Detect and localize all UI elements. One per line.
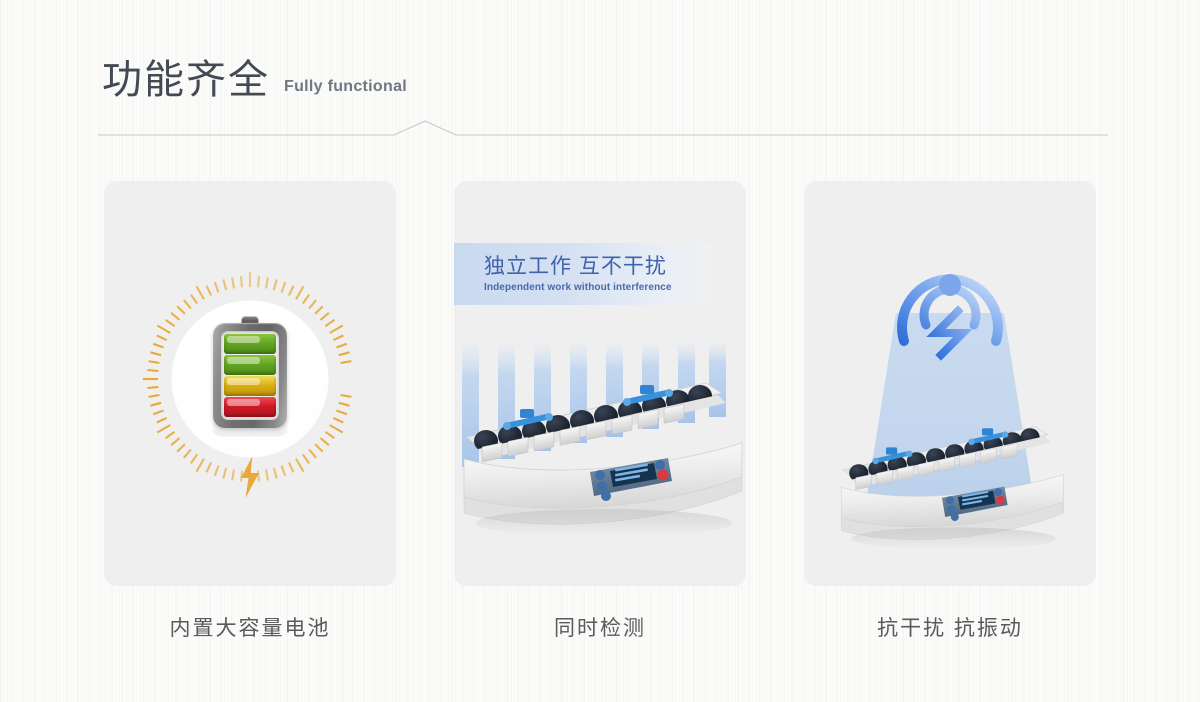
card-caption-battery: 内置大容量电池 xyxy=(104,612,396,642)
banner-title-en: Independent work without interference xyxy=(484,282,712,293)
banner-title-cn: 独立工作 互不干扰 xyxy=(484,250,712,280)
section-header: 功能齐全 Fully functional xyxy=(98,58,1108,128)
page-title-cn: 功能齐全 xyxy=(102,58,270,103)
independent-work-banner: 独立工作 互不干扰 Independent work without inter… xyxy=(454,243,712,305)
card-caption-simultaneous: 同时检测 xyxy=(454,612,746,642)
card-surface-battery xyxy=(104,181,396,586)
feature-card-anti-interference[interactable]: 抗干扰 抗振动 xyxy=(804,181,1096,642)
battery-cell-1 xyxy=(224,334,276,354)
battery-illustration xyxy=(125,254,375,504)
analyzer-device-icon-2 xyxy=(804,393,1096,586)
header-divider-rule xyxy=(98,120,1108,140)
battery-cell-2 xyxy=(224,355,276,375)
analyzer-device-icon xyxy=(454,341,746,586)
card-surface-simultaneous: 独立工作 互不干扰 Independent work without inter… xyxy=(454,181,746,586)
battery-reflection xyxy=(213,393,287,437)
lightning-bolt-icon xyxy=(237,456,263,498)
page-title-en: Fully functional xyxy=(284,78,407,96)
signal-wave-icon xyxy=(884,223,1016,361)
header-title-group: 功能齐全 Fully functional xyxy=(98,58,1108,103)
device-illustration-simultaneous xyxy=(454,341,746,586)
card-surface-anti-interference xyxy=(804,181,1096,586)
card-caption-anti-interference: 抗干扰 抗振动 xyxy=(804,612,1096,642)
device-illustration-anti-interference xyxy=(804,393,1096,586)
feature-card-simultaneous[interactable]: 独立工作 互不干扰 Independent work without inter… xyxy=(454,181,746,642)
feature-card-battery[interactable]: 内置大容量电池 xyxy=(104,181,396,642)
feature-card-list: 内置大容量电池 独立工作 互不干扰 Independent work witho… xyxy=(104,181,1096,642)
